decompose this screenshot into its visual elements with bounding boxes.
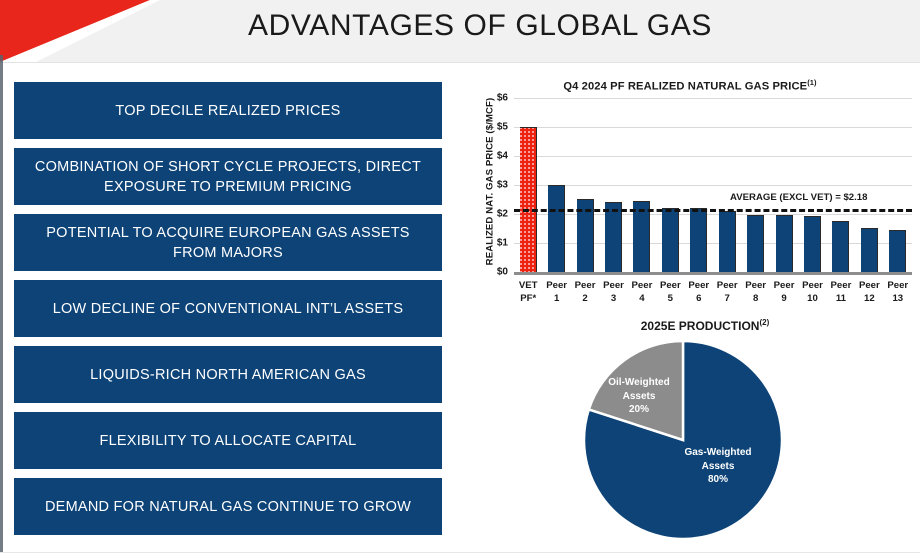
bar-chart-title-text: Q4 2024 PF REALIZED NATURAL GAS PRICE — [563, 81, 807, 93]
x-axis-tick-label: VETPF* — [514, 280, 542, 306]
list-item[interactable]: DEMAND FOR NATURAL GAS CONTINUE TO GROW — [14, 478, 442, 535]
pie-slices — [584, 341, 782, 539]
bar-chart-title-superscript: (1) — [807, 78, 816, 87]
average-reference-line — [514, 209, 912, 212]
x-axis-tick-label: Peer13 — [884, 280, 912, 306]
bar-chart-plot-area: $0$1$2$3$4$5$6 — [514, 98, 912, 275]
x-axis-tick-label: Peer1 — [542, 280, 570, 306]
x-axis-tick-label: Peer3 — [599, 280, 627, 306]
pie-chart: 2025E PRODUCTION(2) Oil-WeightedAssets20… — [540, 318, 920, 550]
gridline — [514, 214, 912, 215]
left-edge-bar — [0, 55, 3, 553]
x-axis-tick-label: Peer9 — [770, 280, 798, 306]
y-axis-tick-label: $6 — [468, 93, 508, 104]
bar[interactable] — [633, 201, 650, 273]
y-axis-tick-label: $4 — [468, 151, 508, 162]
x-axis-tick-label: Peer4 — [628, 280, 656, 306]
y-axis-tick-label: $0 — [468, 267, 508, 278]
bar[interactable] — [662, 208, 679, 273]
x-axis-tick-label: Peer6 — [685, 280, 713, 306]
list-item[interactable]: FLEXIBILITY TO ALLOCATE CAPITAL — [14, 412, 442, 469]
list-item-label: TOP DECILE REALIZED PRICES — [115, 101, 340, 121]
list-item-label: FLEXIBILITY TO ALLOCATE CAPITAL — [99, 431, 356, 451]
pie-chart-title-superscript: (2) — [759, 318, 769, 327]
red-corner-accent-icon — [0, 0, 160, 70]
list-item[interactable]: LIQUIDS-RICH NORTH AMERICAN GAS — [14, 346, 442, 403]
bar-top-cap — [548, 185, 564, 186]
bar[interactable] — [690, 208, 707, 273]
pie-slice-label-gas: Gas-WeightedAssets80% — [658, 446, 778, 487]
bar-chart: Q4 2024 PF REALIZED NATURAL GAS PRICE(1)… — [462, 78, 918, 316]
bar-top-cap — [832, 221, 848, 222]
bar-top-cap — [605, 202, 621, 203]
x-axis-tick-label: Peer2 — [571, 280, 599, 306]
bar-top-cap — [520, 127, 536, 128]
x-axis-tick-label: Peer11 — [827, 280, 855, 306]
gridline — [514, 185, 912, 186]
gridline — [514, 243, 912, 244]
bar-chart-baseline — [514, 272, 912, 275]
bar-chart-title: Q4 2024 PF REALIZED NATURAL GAS PRICE(1) — [462, 78, 918, 93]
bar-top-cap — [804, 216, 820, 217]
list-item[interactable]: TOP DECILE REALIZED PRICES — [14, 82, 442, 139]
bar[interactable] — [832, 221, 849, 273]
bar[interactable] — [747, 215, 764, 273]
list-item-label: COMBINATION OF SHORT CYCLE PROJECTS, DIR… — [26, 157, 430, 197]
list-item-label: DEMAND FOR NATURAL GAS CONTINUE TO GROW — [45, 497, 411, 517]
x-axis-tick-label: Peer10 — [798, 280, 826, 306]
bar[interactable] — [804, 216, 821, 273]
gridline — [514, 156, 912, 157]
bar[interactable] — [548, 185, 565, 273]
x-axis-tick-label: Peer12 — [855, 280, 883, 306]
y-axis-tick-label: $3 — [468, 180, 508, 191]
list-item[interactable]: COMBINATION OF SHORT CYCLE PROJECTS, DIR… — [14, 148, 442, 205]
list-item[interactable]: POTENTIAL TO ACQUIRE EUROPEAN GAS ASSETS… — [14, 214, 442, 271]
advantages-list: TOP DECILE REALIZED PRICES COMBINATION O… — [14, 82, 442, 544]
x-axis-tick-label: Peer8 — [741, 280, 769, 306]
gridline — [514, 127, 912, 128]
bar-top-cap — [577, 199, 593, 200]
bar-top-cap — [889, 230, 905, 231]
y-axis-tick-label: $2 — [468, 209, 508, 220]
y-axis-tick-label: $1 — [468, 238, 508, 249]
pie-chart-title: 2025E PRODUCTION(2) — [540, 318, 870, 333]
x-axis-tick-label: Peer7 — [713, 280, 741, 306]
bar[interactable] — [520, 127, 537, 273]
pie-chart-svg — [580, 340, 830, 545]
list-item-label: LOW DECLINE OF CONVENTIONAL INT’L ASSETS — [53, 299, 404, 319]
bar-top-cap — [747, 215, 763, 216]
bar-top-cap — [776, 215, 792, 216]
gridline — [514, 98, 912, 99]
list-item-label: POTENTIAL TO ACQUIRE EUROPEAN GAS ASSETS… — [26, 223, 430, 263]
average-reference-label: AVERAGE (EXCL VET) = $2.18 — [730, 192, 867, 203]
page-title: ADVANTAGES OF GLOBAL GAS — [248, 9, 712, 43]
slide: ADVANTAGES OF GLOBAL GAS TOP DECILE REAL… — [0, 0, 920, 553]
bar[interactable] — [605, 202, 622, 273]
bar[interactable] — [889, 230, 906, 274]
list-item-label: LIQUIDS-RICH NORTH AMERICAN GAS — [90, 365, 366, 385]
bar-top-cap — [861, 228, 877, 229]
y-axis-tick-label: $5 — [468, 122, 508, 133]
bar[interactable] — [861, 228, 878, 273]
bar-top-cap — [633, 201, 649, 202]
x-axis-tick-label: Peer5 — [656, 280, 684, 306]
header-divider — [0, 62, 920, 63]
pie-slice-label-oil: Oil-WeightedAssets20% — [597, 376, 681, 417]
bar[interactable] — [776, 215, 793, 273]
bar[interactable] — [719, 211, 736, 273]
list-item[interactable]: LOW DECLINE OF CONVENTIONAL INT’L ASSETS — [14, 280, 442, 337]
pie-chart-title-text: 2025E PRODUCTION — [641, 319, 760, 333]
